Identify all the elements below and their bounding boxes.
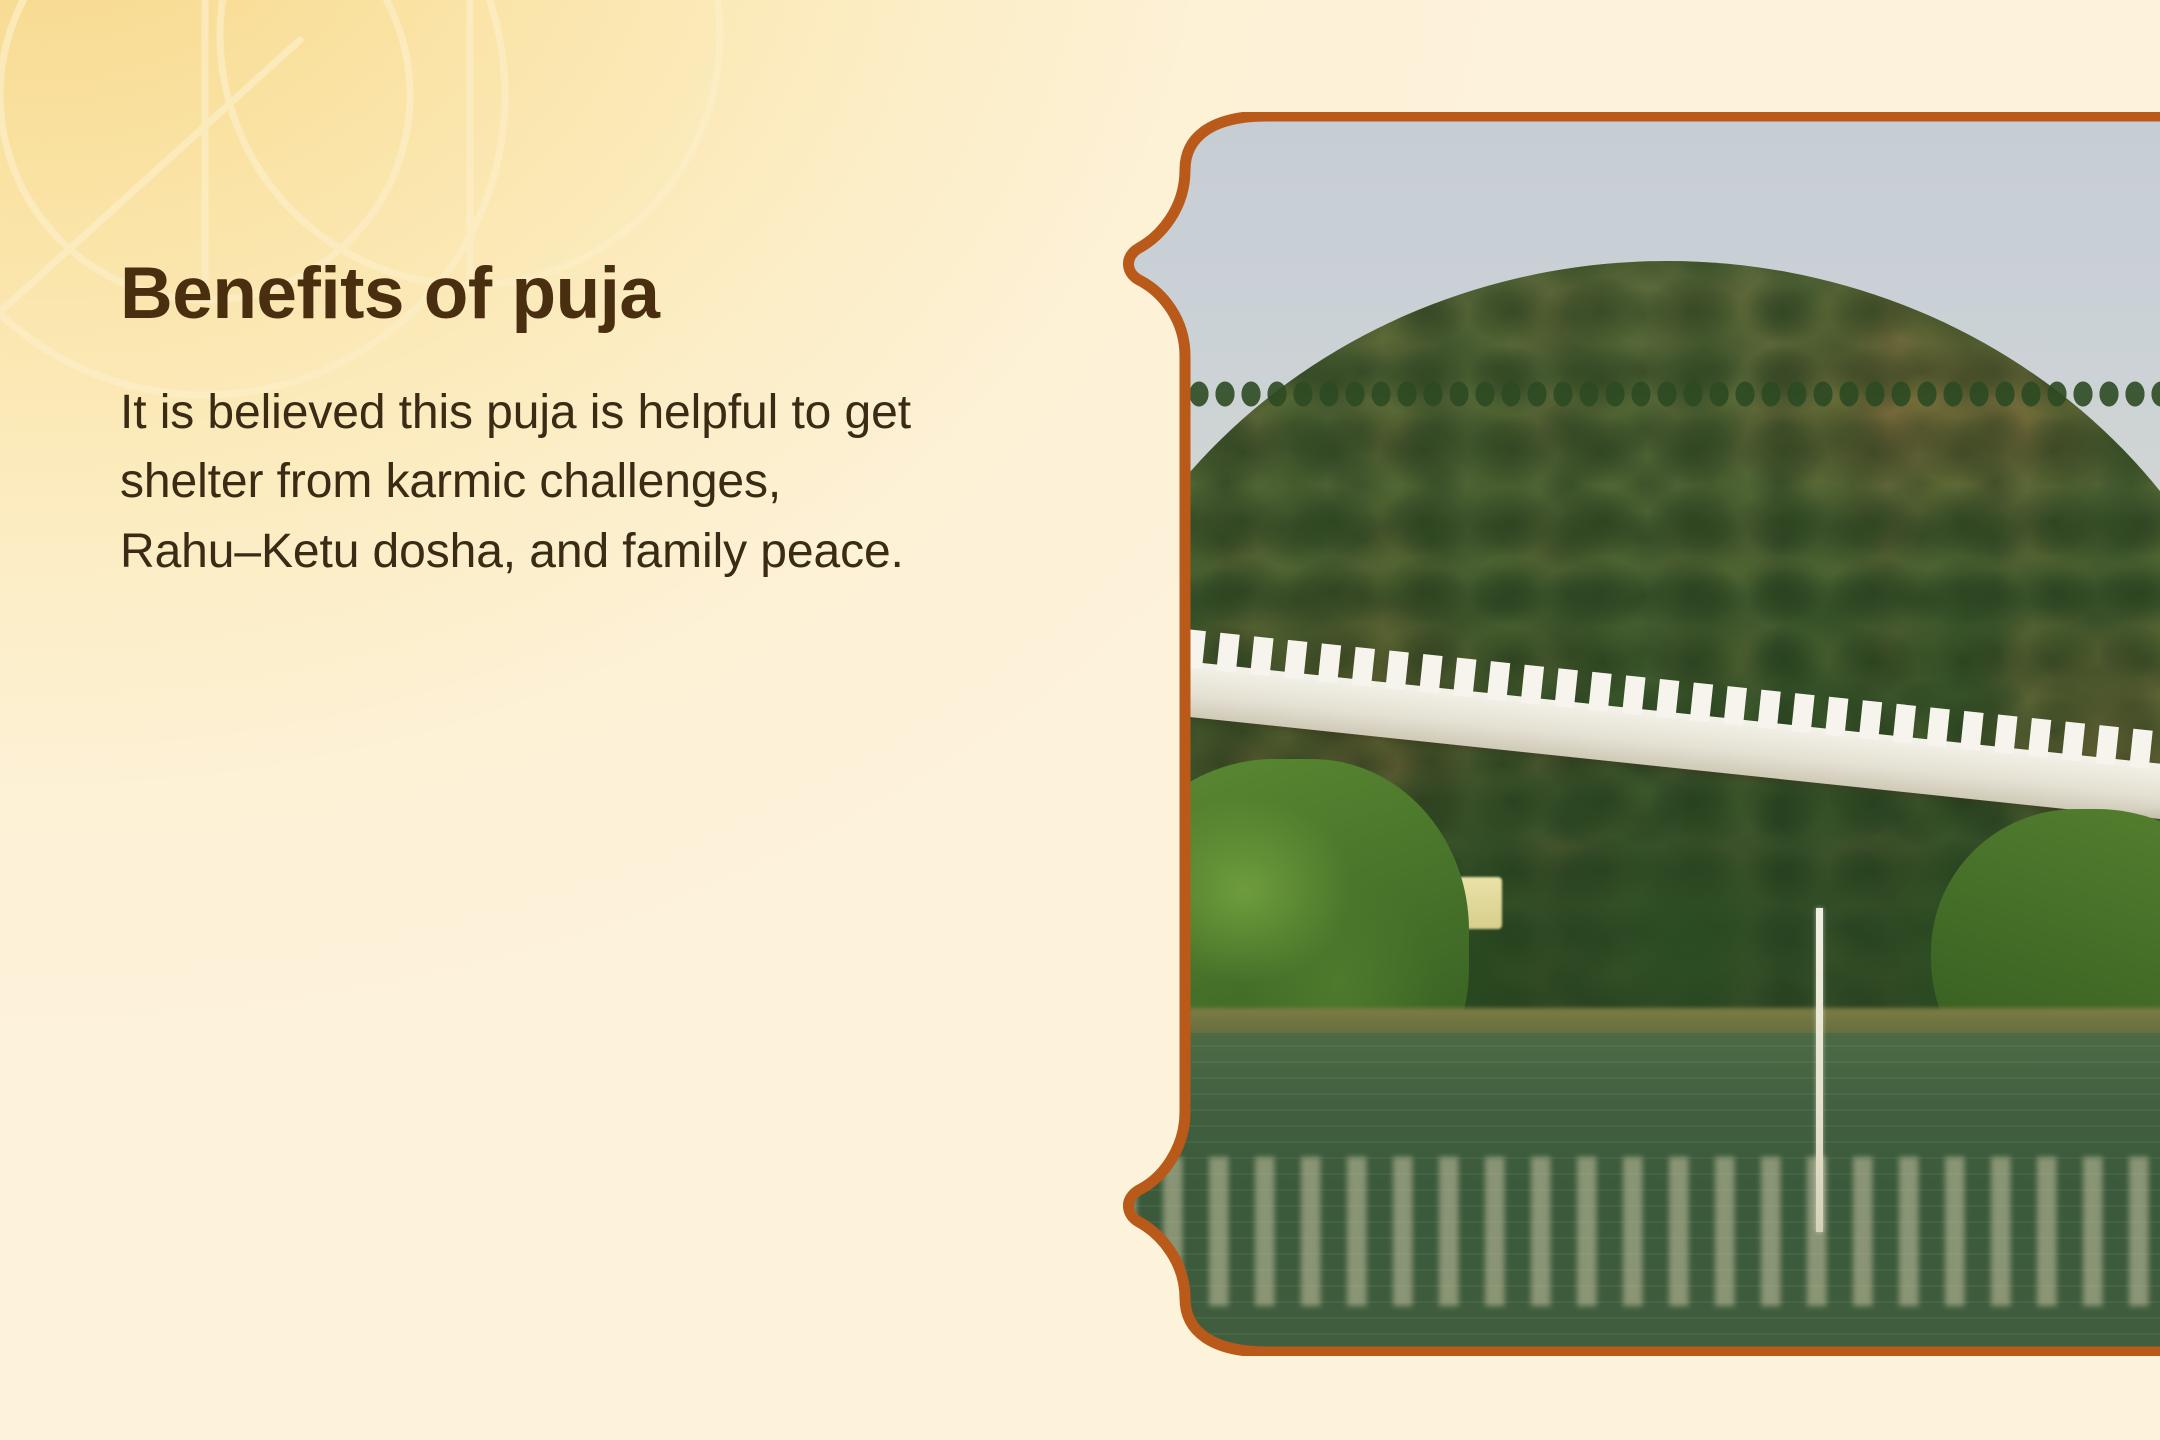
- ridge-treeline: [1117, 286, 2160, 410]
- body-paragraph: It is believed this puja is helpful to g…: [120, 378, 920, 585]
- water-reflections: [1117, 1157, 2160, 1306]
- photo-image: [1117, 112, 2160, 1356]
- page-title: Benefits of puja: [120, 255, 960, 332]
- slide-canvas: Benefits of puja It is believed this puj…: [0, 0, 2160, 1440]
- white-pole: [1816, 908, 1823, 1231]
- photo-card: [1117, 112, 2160, 1356]
- text-column: Benefits of puja It is believed this puj…: [120, 255, 960, 586]
